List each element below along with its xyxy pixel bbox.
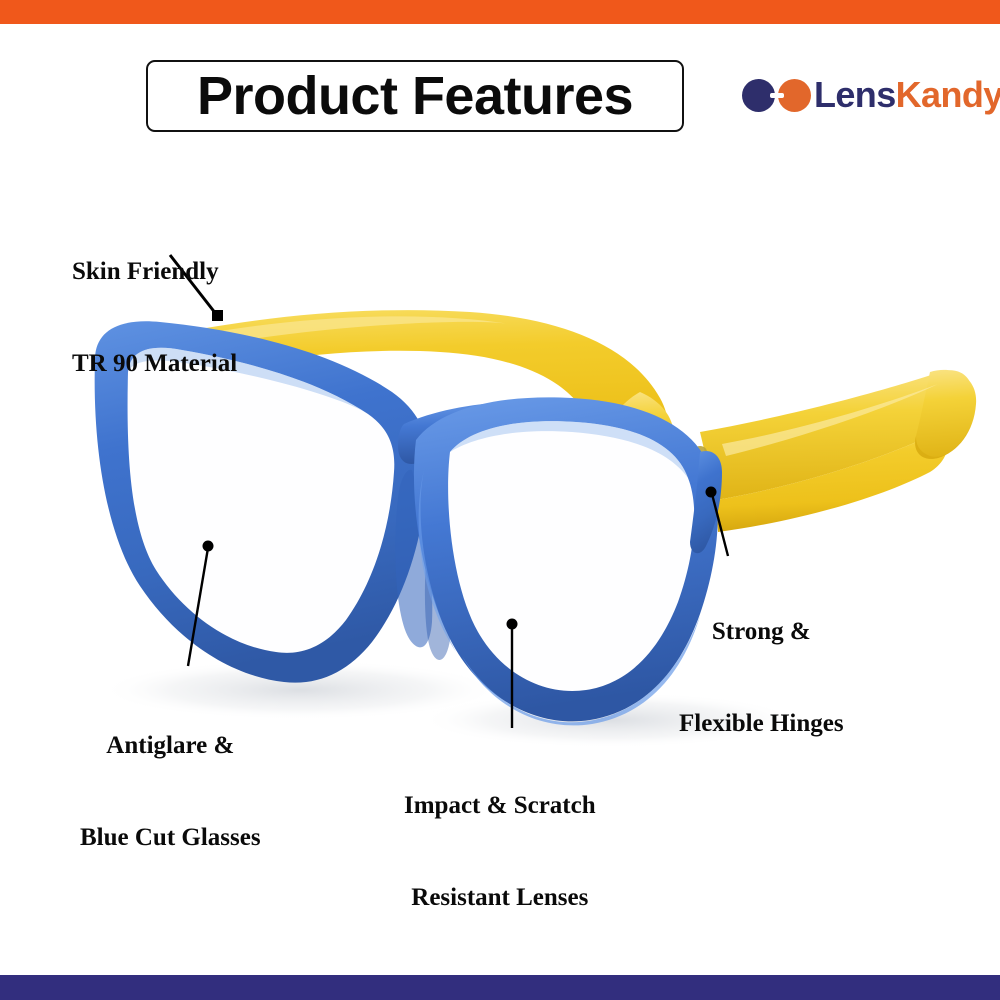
annotation-line-2: TR 90 Material bbox=[72, 349, 237, 380]
annotation-strong-hinges: Strong & Flexible Hinges bbox=[679, 556, 844, 800]
annotation-skin-friendly: Skin Friendly TR 90 Material bbox=[72, 196, 237, 440]
glasses-circles-logo-icon bbox=[742, 75, 814, 115]
annotation-line-2: Resistant Lenses bbox=[404, 883, 596, 914]
annotation-line-2: Flexible Hinges bbox=[679, 709, 844, 740]
annotation-line-1: Antiglare & bbox=[80, 731, 261, 762]
bottom-accent-bar bbox=[0, 975, 1000, 1000]
brand-name: LensKandy bbox=[814, 77, 1000, 113]
brand-logo[interactable]: LensKandy bbox=[742, 66, 982, 124]
annotation-line-1: Strong & bbox=[679, 617, 844, 648]
annotation-line-1: Skin Friendly bbox=[72, 257, 237, 288]
product-feature-infographic: Product Features LensKandy Skin Friendly… bbox=[0, 0, 1000, 1000]
logo-bridge bbox=[770, 93, 784, 98]
brand-name-second: Kandy bbox=[896, 74, 1000, 115]
annotation-antiglare: Antiglare & Blue Cut Glasses bbox=[80, 670, 261, 914]
annotation-line-2: Blue Cut Glasses bbox=[80, 823, 261, 854]
brand-name-first: Lens bbox=[814, 74, 896, 115]
page-title-box: Product Features bbox=[146, 60, 684, 132]
annotation-line-1: Impact & Scratch bbox=[404, 791, 596, 822]
annotation-impact-scratch: Impact & Scratch Resistant Lenses bbox=[404, 730, 596, 974]
page-title: Product Features bbox=[197, 69, 633, 123]
